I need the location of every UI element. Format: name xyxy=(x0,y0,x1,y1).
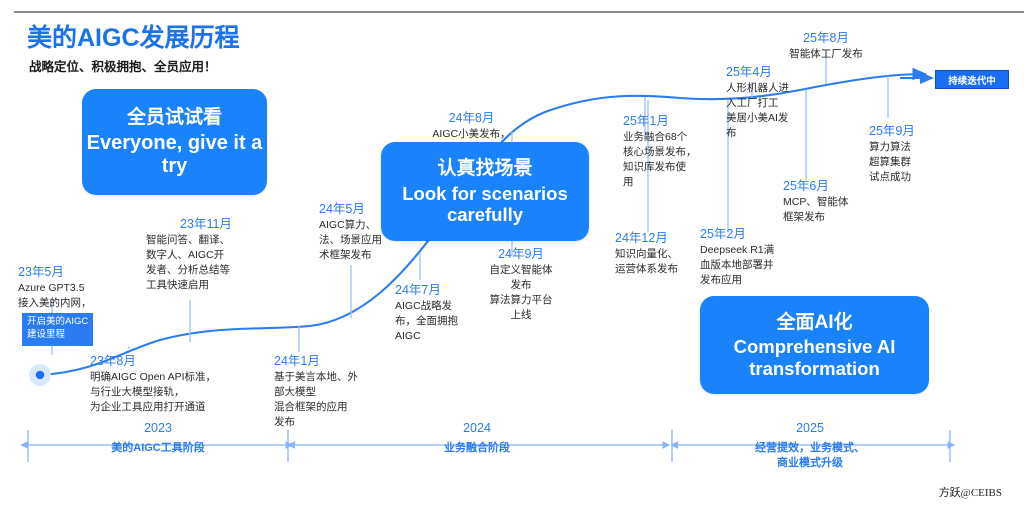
milestone-date: 24年9月 xyxy=(473,246,569,263)
axis-year-2024: 2024 xyxy=(417,421,537,435)
milestone-desc: 明确AIGC Open API标准，与行业大模型接轨，为企业工具应用打开通道 xyxy=(90,370,265,415)
milestone-desc: AIGC算力、法、场景应用术框架发布 xyxy=(319,218,411,263)
start-node-dot xyxy=(36,371,44,379)
milestone-2024-07: 24年7月 AIGC战略发布，全面拥抱AIGC xyxy=(395,282,479,344)
milestone-date: 25年4月 xyxy=(726,64,814,81)
milestone-2025-09: 25年9月 算力算法超算集群试点成功 xyxy=(869,123,951,185)
milestone-2025-08: 25年8月 智能体工厂发布 xyxy=(762,30,890,62)
milestone-date: 25年2月 xyxy=(700,226,798,243)
milestone-2024-09: 24年9月 自定义智能体发布算法算力平台上线 xyxy=(473,246,569,323)
milestone-desc: 智能体工厂发布 xyxy=(762,47,890,62)
milestone-2024-01: 24年1月 基于美言本地、外部大模型混合框架的应用发布 xyxy=(274,353,384,430)
milestone-desc: Deepseek R1满血版本地部署并发布应用 xyxy=(700,243,798,288)
callout-cn-label: 全面AI化 xyxy=(776,311,852,335)
page-subtitle: 战略定位、积极拥抱、全员应用！ xyxy=(29,56,217,75)
milestone-2025-04: 25年4月 人形机器人进入工厂打工美居小美AI发布 xyxy=(726,64,814,141)
milestone-date: 24年8月 xyxy=(399,110,544,127)
milestone-date: 24年7月 xyxy=(395,282,479,299)
milestone-2023-11: 23年11月 智能问答、翻译、数字人、AIGC开发者、分析总结等工具快速启用 xyxy=(146,216,266,293)
milestone-2023-05: 23年5月 Azure GPT3.5接入美的内网， xyxy=(18,264,128,311)
axis-year-2023: 2023 xyxy=(98,421,218,435)
callout-everyone-try: 全员试试看 Everyone, give it a try xyxy=(82,89,267,195)
timeline-diagram: 美的AIGC发展历程 战略定位、积极拥抱、全员应用！ xyxy=(0,0,1024,515)
milestone-desc: 基于美言本地、外部大模型混合框架的应用发布 xyxy=(274,370,384,430)
axis-phase-2023: 美的AIGC工具阶段 xyxy=(83,441,233,456)
milestone-2025-06: 25年6月 MCP、智能体框架发布 xyxy=(783,178,875,225)
milestone-2024-05: 24年5月 AIGC算力、法、场景应用术框架发布 xyxy=(319,201,411,263)
milestone-desc: 业务融合68个核心场景发布，知识库发布使用 xyxy=(623,130,715,190)
axis-year-2025: 2025 xyxy=(750,421,870,435)
milestone-desc: 知识向量化、运营体系发布 xyxy=(615,247,709,277)
axis-phase-2024: 业务融合阶段 xyxy=(402,441,552,456)
page-title: 美的AIGC发展历程 xyxy=(27,18,240,54)
milestone-date: 24年5月 xyxy=(319,201,411,218)
milestone-desc: MCP、智能体框架发布 xyxy=(783,195,875,225)
milestone-date: 24年1月 xyxy=(274,353,384,370)
milestone-2024-08: 24年8月 AIGC小美发布， xyxy=(399,110,544,142)
callout-en-label: Comprehensive AI transformation xyxy=(700,336,929,379)
milestone-date: 23年8月 xyxy=(90,353,265,370)
milestone-date: 24年12月 xyxy=(615,230,709,247)
milestone-desc: AIGC小美发布， xyxy=(399,127,544,142)
author-credit: 方跃@CEIBS xyxy=(939,484,1002,500)
milestone-desc: 智能问答、翻译、数字人、AIGC开发者、分析总结等工具快速启用 xyxy=(146,233,266,293)
callout-cn-label: 认真找场景 xyxy=(437,157,532,181)
milestone-date: 25年1月 xyxy=(623,113,715,130)
callout-cn-label: 全员试试看 xyxy=(127,106,222,130)
callout-find-scenarios: 认真找场景 Look for scenarios carefully xyxy=(381,142,589,241)
start-node-halo xyxy=(29,364,51,386)
milestone-desc: 人形机器人进入工厂打工美居小美AI发布 xyxy=(726,81,814,141)
axis-phase-2025: 经营提效，业务模式、商业模式升级 xyxy=(730,441,890,472)
callout-en-label: Look for scenarios carefully xyxy=(381,183,589,226)
milestone-date: 23年11月 xyxy=(146,216,266,233)
milestone-date: 23年5月 xyxy=(18,264,128,281)
milestone-desc: AIGC战略发布，全面拥抱AIGC xyxy=(395,299,479,344)
milestone-desc: 算力算法超算集群试点成功 xyxy=(869,140,951,185)
start-milestone-tag: 开启美的AIGC建设里程 xyxy=(22,313,93,346)
milestone-2025-01: 25年1月 业务融合68个核心场景发布，知识库发布使用 xyxy=(623,113,715,190)
milestone-desc: Azure GPT3.5接入美的内网， xyxy=(18,281,128,311)
milestone-desc: 自定义智能体发布算法算力平台上线 xyxy=(473,263,569,323)
milestone-2025-02: 25年2月 Deepseek R1满血版本地部署并发布应用 xyxy=(700,226,798,288)
milestone-2024-12: 24年12月 知识向量化、运营体系发布 xyxy=(615,230,709,277)
top-divider-rule xyxy=(14,11,1024,13)
continuous-iteration-badge: 持续迭代中 xyxy=(935,70,1009,89)
milestone-date: 25年8月 xyxy=(762,30,890,47)
milestone-2023-08: 23年8月 明确AIGC Open API标准，与行业大模型接轨，为企业工具应用… xyxy=(90,353,265,415)
callout-en-label: Everyone, give it a try xyxy=(82,132,267,178)
milestone-date: 25年6月 xyxy=(783,178,875,195)
callout-comprehensive-ai: 全面AI化 Comprehensive AI transformation xyxy=(700,296,929,394)
milestone-date: 25年9月 xyxy=(869,123,951,140)
